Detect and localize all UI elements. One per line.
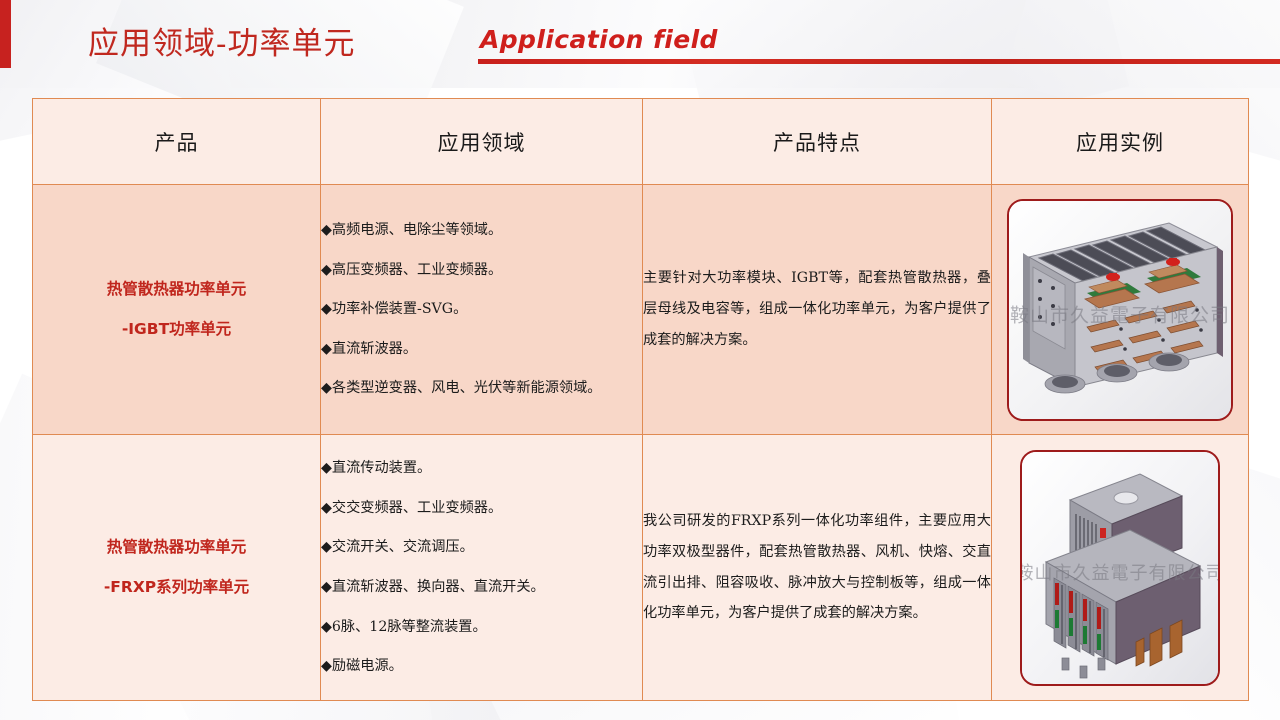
column-header-product-features: 产品特点 — [643, 99, 992, 185]
page-title-cn: 应用领域-功率单元 — [88, 18, 355, 63]
application-field-cell-2: ◆直流传动装置。 ◆交交变频器、工业变频器。 ◆交流开关、交流调压。 ◆直流斩波… — [321, 435, 643, 701]
field-bullet: ◆直流斩波器、换向器、直流开关。 — [321, 577, 642, 598]
frxp-power-unit-photo: 鞍山市久益電子有限公司 — [1020, 450, 1220, 686]
content-table-container: 产品 应用领域 产品特点 应用实例 热管散热器功率单元 -IGBT功率单元 ◆高… — [32, 98, 1248, 700]
igbt-power-unit-photo: 鞍山市久益電子有限公司 — [1007, 199, 1233, 421]
igbt-power-unit-illustration — [1009, 201, 1231, 419]
field-bullet: ◆交流开关、交流调压。 — [321, 537, 642, 558]
product-name-line1: 热管散热器功率单元 — [33, 528, 320, 568]
table-row: 热管散热器功率单元 -IGBT功率单元 ◆高频电源、电除尘等领域。 ◆高压变频器… — [33, 185, 1249, 435]
field-bullet: ◆直流斩波器。 — [321, 339, 642, 360]
product-name-line1: 热管散热器功率单元 — [33, 270, 320, 310]
field-bullet: ◆直流传动装置。 — [321, 458, 642, 479]
page-title-en: Application field — [480, 25, 718, 54]
product-name-line2: -IGBT功率单元 — [33, 310, 320, 350]
field-bullet: ◆各类型逆变器、风电、光伏等新能源领域。 — [321, 378, 642, 399]
product-features-cell-2: 我公司研发的FRXP系列一体化功率组件，主要应用大功率双极型器件，配套热管散热器… — [643, 435, 992, 701]
product-name-cell-1: 热管散热器功率单元 -IGBT功率单元 — [33, 185, 321, 435]
application-example-cell-1: 鞍山市久益電子有限公司 — [992, 185, 1249, 435]
field-bullet: ◆交交变频器、工业变频器。 — [321, 498, 642, 519]
column-header-product: 产品 — [33, 99, 321, 185]
column-header-application-field: 应用领域 — [321, 99, 643, 185]
product-application-table: 产品 应用领域 产品特点 应用实例 热管散热器功率单元 -IGBT功率单元 ◆高… — [32, 98, 1249, 701]
field-bullet: ◆功率补偿装置-SVG。 — [321, 299, 642, 320]
product-name-cell-2: 热管散热器功率单元 -FRXP系列功率单元 — [33, 435, 321, 701]
table-row: 热管散热器功率单元 -FRXP系列功率单元 ◆直流传动装置。 ◆交交变频器、工业… — [33, 435, 1249, 701]
header-accent-bar — [0, 0, 11, 68]
application-example-cell-2: 鞍山市久益電子有限公司 — [992, 435, 1249, 701]
column-header-application-example: 应用实例 — [992, 99, 1249, 185]
field-bullet: ◆励磁电源。 — [321, 656, 642, 677]
header-underline — [478, 59, 1280, 64]
application-field-cell-1: ◆高频电源、电除尘等领域。 ◆高压变频器、工业变频器。 ◆功率补偿装置-SVG。… — [321, 185, 643, 435]
field-bullet: ◆高压变频器、工业变频器。 — [321, 260, 642, 281]
frxp-power-unit-illustration — [1022, 452, 1218, 684]
field-bullet: ◆6脉、12脉等整流装置。 — [321, 617, 642, 638]
slide-header: 应用领域-功率单元 Application field — [0, 0, 1280, 88]
field-bullet: ◆高频电源、电除尘等领域。 — [321, 220, 642, 241]
product-name-line2: -FRXP系列功率单元 — [33, 568, 320, 608]
table-header-row: 产品 应用领域 产品特点 应用实例 — [33, 99, 1249, 185]
product-features-cell-1: 主要针对大功率模块、IGBT等，配套热管散热器，叠层母线及电容等，组成一体化功率… — [643, 185, 992, 435]
